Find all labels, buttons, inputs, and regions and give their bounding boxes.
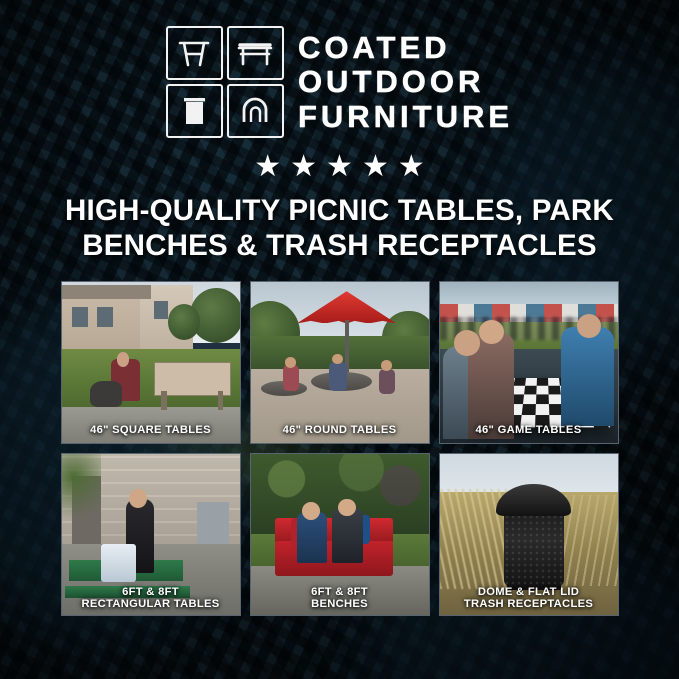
page-title: HIGH-QUALITY PICNIC TABLES, PARK BENCHES… [30,194,650,264]
tile-rectangular-tables[interactable]: 6FT & 8FT RECTANGULAR TABLES [61,453,241,616]
star-icon-4: ★ [362,152,389,182]
brand-name-line-2: OUTDOOR [298,66,513,98]
tile-caption-trash-receptacles: DOME & FLAT LID TRASH RECEPTACLES [440,586,618,611]
brand-logo: COATED OUTDOOR FURNITURE [166,24,513,140]
tile-caption-line-1: DOME & FLAT LID [440,586,618,599]
headline-line-2: BENCHES & TRASH RECEPTACLES [30,229,650,264]
headline-line-1: HIGH-QUALITY PICNIC TABLES, PARK [30,194,650,229]
tile-benches[interactable]: 6FT & 8FT BENCHES [250,453,430,616]
star-rating: ★ ★ ★ ★ ★ [254,152,425,182]
content-stack: COATED OUTDOOR FURNITURE ★ ★ ★ ★ ★ HIGH-… [0,0,679,679]
tile-caption-line-2: RECTANGULAR TABLES [62,598,240,611]
brand-name-line-1: COATED [298,32,513,64]
arch-trash-can-icon [227,84,284,138]
tile-game-tables[interactable]: 46" GAME TABLES [439,281,619,444]
tile-caption-line-1: 6FT & 8FT [251,586,429,599]
logo-icon-grid [166,26,284,138]
tile-image-game-tables [440,282,618,443]
promo-image: COATED OUTDOOR FURNITURE ★ ★ ★ ★ ★ HIGH-… [0,0,679,679]
tile-caption-line-1: 6FT & 8FT [62,586,240,599]
tile-trash-receptacles[interactable]: DOME & FLAT LID TRASH RECEPTACLES [439,453,619,616]
tile-image-round-tables [251,282,429,443]
product-category-grid: 46" SQUARE TABLES [61,281,619,616]
tile-caption-benches: 6FT & 8FT BENCHES [251,586,429,611]
star-icon-3: ★ [326,152,353,182]
tile-caption-game-tables: 46" GAME TABLES [440,424,618,437]
star-icon-1: ★ [254,152,281,182]
bench-icon [227,26,284,80]
tile-caption-line-2: BENCHES [251,598,429,611]
brand-name-line-3: FURNITURE [298,101,513,133]
brand-wordmark: COATED OUTDOOR FURNITURE [298,32,513,133]
star-icon-5: ★ [398,152,425,182]
tile-round-tables[interactable]: 46" ROUND TABLES [250,281,430,444]
picnic-table-icon [166,26,223,80]
star-icon-2: ★ [290,152,317,182]
tile-caption-rectangular-tables: 6FT & 8FT RECTANGULAR TABLES [62,586,240,611]
tile-image-square-tables [62,282,240,443]
tile-caption-square-tables: 46" SQUARE TABLES [62,424,240,437]
tile-square-tables[interactable]: 46" SQUARE TABLES [61,281,241,444]
tile-caption-line-2: TRASH RECEPTACLES [440,598,618,611]
trash-receptacle-icon [166,84,223,138]
tile-caption-round-tables: 46" ROUND TABLES [251,424,429,437]
